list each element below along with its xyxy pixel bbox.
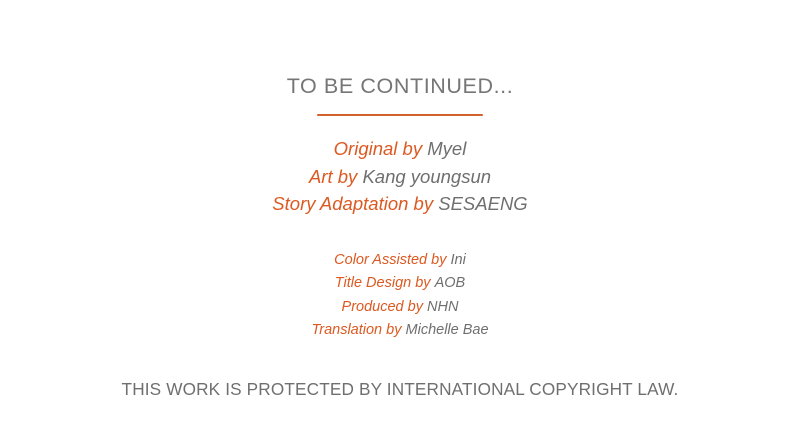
credit-line: Color Assisted byIni	[334, 249, 466, 273]
credit-name: Myel	[427, 138, 466, 159]
credit-line: Story Adaptation bySESAENG	[272, 190, 527, 218]
credit-line: Original byMyel	[334, 135, 467, 163]
copyright-notice: THIS WORK IS PROTECTED BY INTERNATIONAL …	[122, 379, 679, 399]
credit-role: Story Adaptation by	[272, 193, 433, 214]
end-card: TO BE CONTINUED... Original byMyel Art b…	[0, 0, 800, 427]
credit-name: NHN	[427, 299, 458, 315]
credit-name: SESAENG	[438, 193, 527, 214]
end-card-content: TO BE CONTINUED... Original byMyel Art b…	[0, 0, 800, 427]
credit-name: AOB	[435, 275, 466, 291]
credit-role: Produced by	[342, 299, 423, 315]
credit-line: Produced byNHN	[342, 296, 459, 320]
credit-role: Original by	[334, 138, 422, 159]
credit-role: Title Design by	[335, 275, 431, 291]
credit-name: Kang youngsun	[362, 166, 491, 187]
credit-line: Title Design byAOB	[335, 272, 465, 296]
credit-line: Art byKang youngsun	[309, 163, 491, 191]
credits-primary-block: Original byMyel Art byKang youngsun Stor…	[272, 135, 527, 218]
credit-name: Ini	[451, 252, 466, 268]
credits-secondary-block: Color Assisted byIni Title Design byAOB …	[311, 249, 488, 343]
credit-role: Art by	[309, 166, 357, 187]
divider-rule	[317, 114, 483, 116]
to-be-continued-heading: TO BE CONTINUED...	[287, 74, 514, 98]
credit-role: Translation by	[311, 322, 401, 338]
credit-line: Translation byMichelle Bae	[311, 319, 488, 343]
credit-name: Michelle Bae	[406, 322, 489, 338]
credit-role: Color Assisted by	[334, 252, 446, 268]
